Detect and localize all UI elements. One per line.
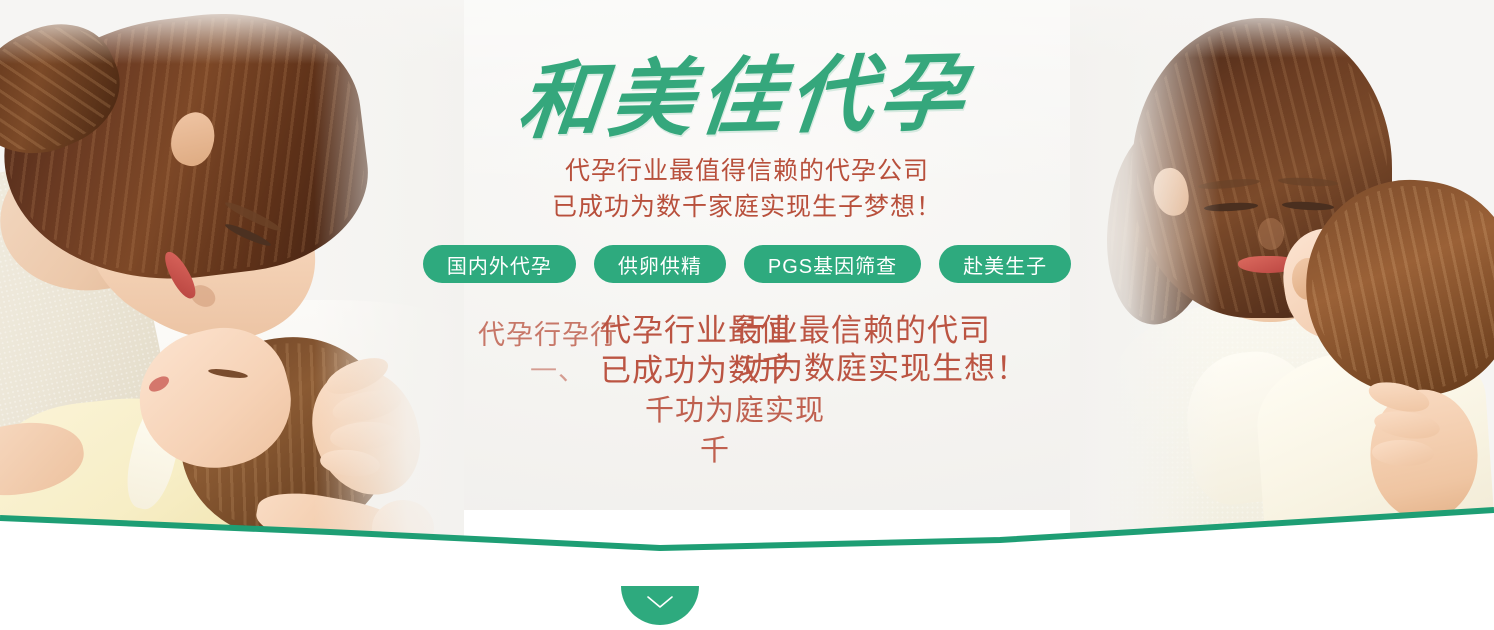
pill-birth-in-usa[interactable]: 赴美生子 [939, 245, 1071, 283]
chevron-down-icon [645, 594, 675, 610]
service-pill-row: 国内外代孕 供卵供精 PGS基因筛查 赴美生子 [0, 225, 1494, 283]
pill-pgs-genetic-screening[interactable]: PGS基因筛查 [744, 245, 921, 283]
ghost-text-fragment: 千 [700, 431, 730, 472]
banner-copy: 和美佳代孕 代孕行业最值得信赖的代孕公司 已成功为数千家庭实现生子梦想！ 国内外… [0, 0, 1494, 467]
ghost-text-artifact: 代孕行孕行 代孕行业最值 行业最信赖的代司 一、 已成功为数千 功为数庭实现生想… [0, 317, 1494, 467]
ghost-text-fragment: 千功为庭实现 [645, 391, 825, 432]
tagline-line-2: 已成功为数千家庭实现生子梦想！ [552, 193, 942, 221]
ghost-text-fragment: 一、 [530, 353, 586, 391]
ghost-text-fragment: 行业最信赖的代司 [735, 309, 991, 352]
pill-egg-sperm-donation[interactable]: 供卵供精 [594, 245, 726, 283]
hero-banner: 和美佳代孕 代孕行业最值得信赖的代孕公司 已成功为数千家庭实现生子梦想！ 国内外… [0, 0, 1494, 630]
tagline: 代孕行业最值得信赖的代孕公司 已成功为数千家庭实现生子梦想！ [0, 143, 1494, 226]
ghost-text-fragment: 功为数庭实现生想！ [740, 347, 1028, 390]
divider-svg [0, 470, 1494, 630]
green-divider-curve [0, 470, 1494, 630]
pill-domestic-overseas-surrogacy[interactable]: 国内外代孕 [423, 245, 576, 283]
tagline-line-1: 代孕行业最值得信赖的代孕公司 [565, 157, 929, 185]
ghost-text-fragment: 代孕行孕行 [478, 317, 618, 355]
